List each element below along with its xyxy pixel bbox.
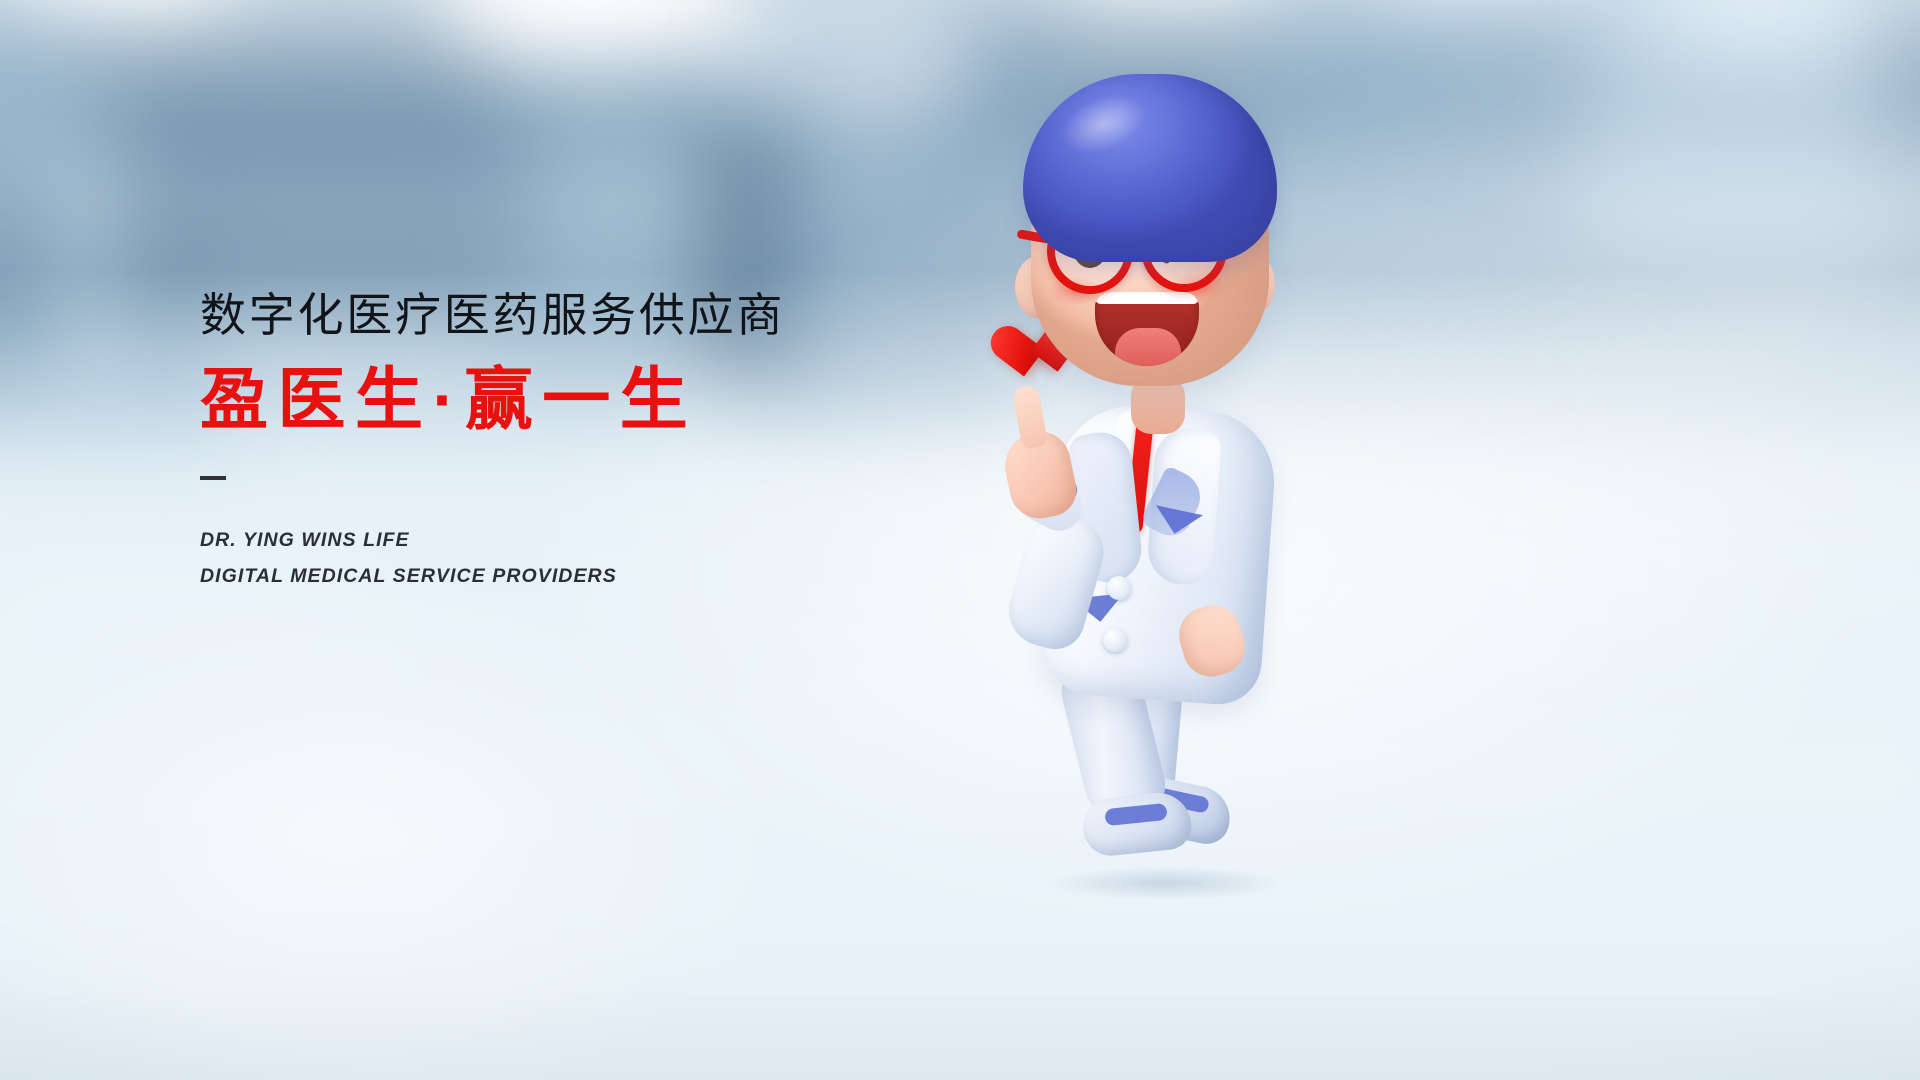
subtitle-line-2: DIGITAL MEDICAL SERVICE PROVIDERS	[200, 558, 785, 594]
copy-block: 数字化医疗医药服务供应商 盈医生·赢一生 DR. YING WINS LIFE …	[200, 292, 785, 594]
divider-rule	[200, 476, 226, 480]
subtitle-block: DR. YING WINS LIFE DIGITAL MEDICAL SERVI…	[200, 522, 785, 594]
mascot-ground-shadow	[1051, 866, 1281, 900]
page-title: 数字化医疗医药服务供应商	[200, 292, 785, 338]
subtitle-line-1: DR. YING WINS LIFE	[200, 522, 785, 558]
tongue	[1115, 328, 1181, 366]
coat-button-bottom	[1103, 628, 1127, 652]
banner-stage: 数字化医疗医药服务供应商 盈医生·赢一生 DR. YING WINS LIFE …	[0, 0, 1920, 1080]
slogan: 盈医生·赢一生	[200, 366, 785, 434]
doctor-mascot	[955, 40, 1375, 870]
medical-cap	[1023, 74, 1277, 262]
coat-button-top	[1107, 576, 1131, 600]
upper-teeth	[1095, 292, 1199, 304]
